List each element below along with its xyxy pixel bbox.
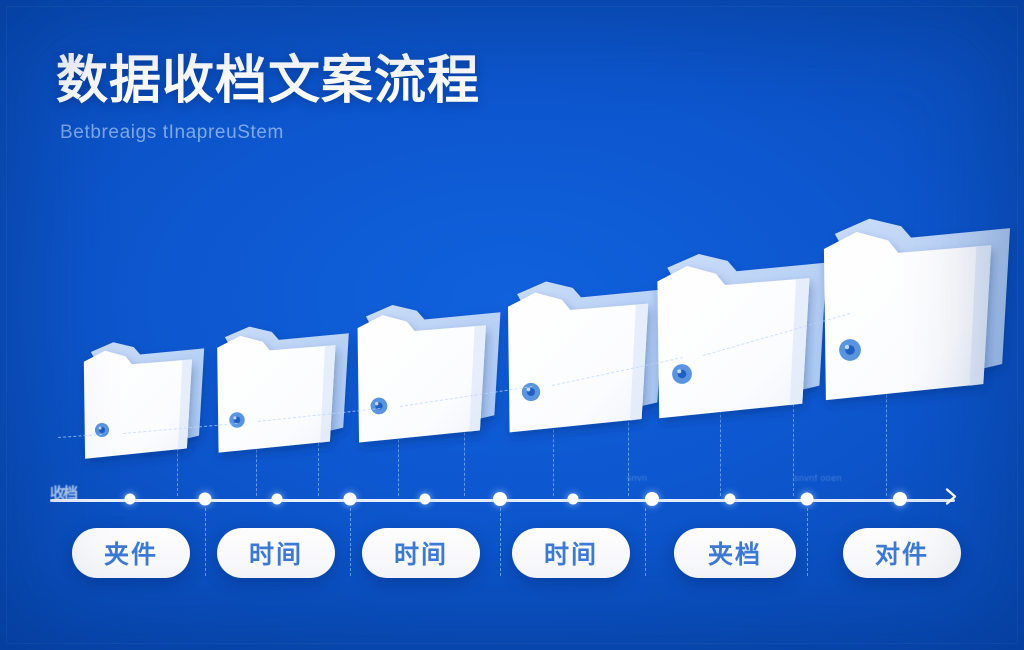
pill-separator-5 bbox=[807, 508, 808, 576]
stage-label-pill-6[interactable]: 对件 bbox=[843, 528, 961, 578]
stage-label-pill-2[interactable]: 时间 bbox=[217, 528, 335, 578]
timeline-ghost-label-1: snvn bbox=[627, 473, 648, 483]
pill-separator-2 bbox=[350, 508, 351, 576]
folder-icon-3 bbox=[353, 300, 505, 444]
timeline-dot-2[interactable] bbox=[199, 493, 212, 506]
stage-label-pill-5[interactable]: 夹档 bbox=[674, 528, 796, 578]
folder-icon-2 bbox=[213, 322, 353, 454]
folder-icon-5 bbox=[652, 248, 832, 420]
timeline-dot-10[interactable] bbox=[801, 493, 814, 506]
timeline-dot-7[interactable] bbox=[568, 494, 579, 505]
pill-separator-4 bbox=[645, 508, 646, 576]
folder-icon-6 bbox=[818, 212, 1016, 402]
timeline-dot-1[interactable] bbox=[125, 494, 136, 505]
folder-icon-4 bbox=[503, 276, 669, 434]
timeline-dot-11[interactable] bbox=[893, 492, 907, 506]
timeline-arrow-icon bbox=[940, 486, 962, 513]
folder-icon-1 bbox=[80, 338, 208, 460]
timeline-dot-9[interactable] bbox=[725, 494, 736, 505]
stage-label-pill-3[interactable]: 时间 bbox=[362, 528, 480, 578]
timeline-start-mark: 收档 bbox=[50, 482, 94, 508]
stage-label-pill-1[interactable]: 夹件 bbox=[72, 528, 190, 578]
timeline-dot-4[interactable] bbox=[344, 493, 357, 506]
timeline-dot-5[interactable] bbox=[420, 494, 431, 505]
infographic-canvas: 数据收档文案流程 Betbreaigs tInapreuStem bbox=[0, 0, 1024, 650]
pill-separator-1 bbox=[205, 508, 206, 576]
stage-label-pill-4[interactable]: 时间 bbox=[512, 528, 630, 578]
timeline-ghost-label-2: snvnf ooen bbox=[794, 473, 842, 483]
timeline-dot-8[interactable] bbox=[645, 492, 659, 506]
timeline-dot-6[interactable] bbox=[493, 492, 507, 506]
pill-separator-3 bbox=[500, 508, 501, 576]
timeline-dot-3[interactable] bbox=[272, 494, 283, 505]
